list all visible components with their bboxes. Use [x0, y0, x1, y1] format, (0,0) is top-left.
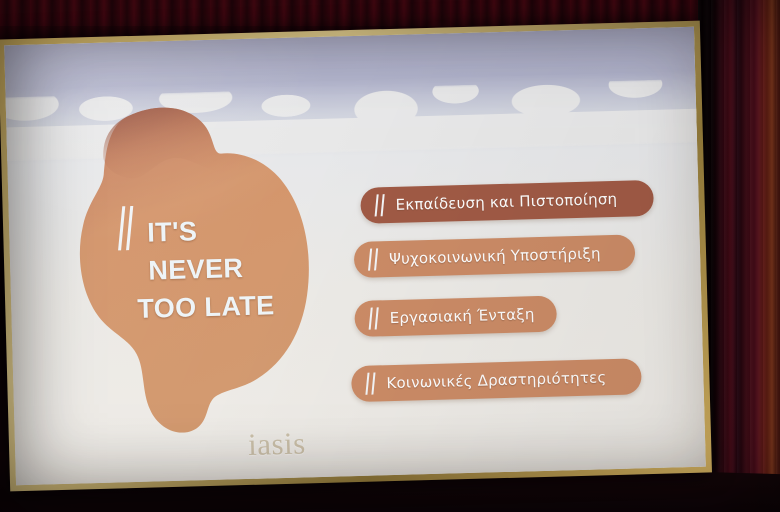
double-bar-accent-icon: [365, 372, 382, 394]
screen-surface: IT'S NEVER TOO LATE iasis Εκπαίδευση και…: [4, 27, 706, 486]
service-pill-social-activities: Κοινωνικές Δραστηριότητες: [351, 358, 642, 402]
pill-label: Εκπαίδευση και Πιστοποίηση: [395, 190, 617, 214]
service-pill-employment-integration: Εργασιακή Ένταξη: [354, 296, 557, 337]
projection-screen: IT'S NEVER TOO LATE iasis Εκπαίδευση και…: [0, 21, 712, 492]
pill-label: Εργασιακή Ένταξη: [389, 305, 534, 327]
photograph-of-projected-slide: IT'S NEVER TOO LATE iasis Εκπαίδευση και…: [0, 0, 780, 512]
double-bar-accent-icon: [368, 307, 385, 329]
service-pill-psychosocial-support: Ψυχοκοινωνική Υποστήριξη: [354, 234, 636, 278]
double-bar-accent-icon: [374, 194, 391, 216]
pill-label: Κοινωνικές Δραστηριότητες: [386, 368, 606, 392]
service-pill-education: Εκπαίδευση και Πιστοποίηση: [360, 180, 654, 224]
service-pill-list: Εκπαίδευση και Πιστοποίηση Ψυχοκοινωνική…: [4, 27, 706, 486]
double-bar-accent-icon: [368, 248, 385, 270]
pill-label: Ψυχοκοινωνική Υποστήριξη: [389, 244, 601, 268]
